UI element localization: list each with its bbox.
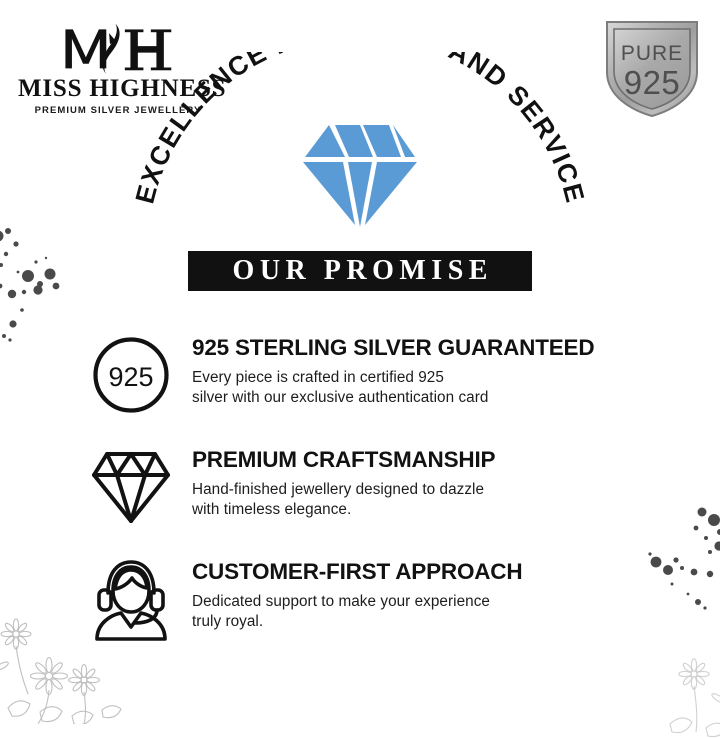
our-promise-banner: OUR PROMISE <box>188 251 532 291</box>
feature-icon-wrapper <box>88 444 174 530</box>
feature-title: CUSTOMER-FIRST APPROACH <box>192 560 522 585</box>
headset-support-agent-icon <box>91 557 171 641</box>
feature-desc-line-1: Dedicated support to make your experienc… <box>192 592 522 612</box>
feature-text: PREMIUM CRAFTSMANSHIP Hand-finished jewe… <box>192 444 495 520</box>
feature-icon-wrapper <box>88 556 174 642</box>
our-promise-label: OUR PROMISE <box>227 257 493 285</box>
feature-icon-wrapper: 925 <box>88 332 174 418</box>
feature-description: Hand-finished jewellery designed to dazz… <box>192 480 495 521</box>
feature-desc-line-2: with timeless elegance. <box>192 500 495 520</box>
feature-desc-line-1: Hand-finished jewellery designed to dazz… <box>192 480 495 500</box>
feature-desc-line-2: silver with our exclusive authentication… <box>192 388 594 408</box>
feature-text: 925 STERLING SILVER GUARANTEED Every pie… <box>192 332 594 408</box>
circle-925-label: 925 <box>108 362 153 392</box>
diamond-outline-icon <box>90 449 172 525</box>
hero-emblem: EXCELLENCE IN QUALITY AND SERVICE <box>130 52 590 252</box>
circle-925-icon: 925 <box>91 335 171 415</box>
feature-title: PREMIUM CRAFTSMANSHIP <box>192 448 495 473</box>
promise-infographic-page: MISS HIGHNESS PREMIUM SILVER JEWELLERY P… <box>0 0 720 720</box>
feature-desc-line-1: Every piece is crafted in certified 925 <box>192 368 594 388</box>
feature-description: Every piece is crafted in certified 925 … <box>192 368 594 409</box>
feature-row-sterling-silver: 925 925 STERLING SILVER GUARANTEED Every… <box>88 332 688 418</box>
feature-desc-line-2: truly royal. <box>192 612 522 632</box>
badge-line2: 925 <box>624 64 681 101</box>
feature-text: CUSTOMER-FIRST APPROACH Dedicated suppor… <box>192 556 522 632</box>
purity-shield-badge: PURE 925 <box>601 16 703 120</box>
diamond-gem-icon <box>301 119 419 229</box>
feature-row-customer-first: CUSTOMER-FIRST APPROACH Dedicated suppor… <box>88 556 688 642</box>
badge-line1: PURE <box>621 42 683 65</box>
feature-description: Dedicated support to make your experienc… <box>192 592 522 633</box>
feature-title: 925 STERLING SILVER GUARANTEED <box>192 336 594 361</box>
feature-row-craftsmanship: PREMIUM CRAFTSMANSHIP Hand-finished jewe… <box>88 444 688 530</box>
feature-list: 925 925 STERLING SILVER GUARANTEED Every… <box>88 332 688 668</box>
